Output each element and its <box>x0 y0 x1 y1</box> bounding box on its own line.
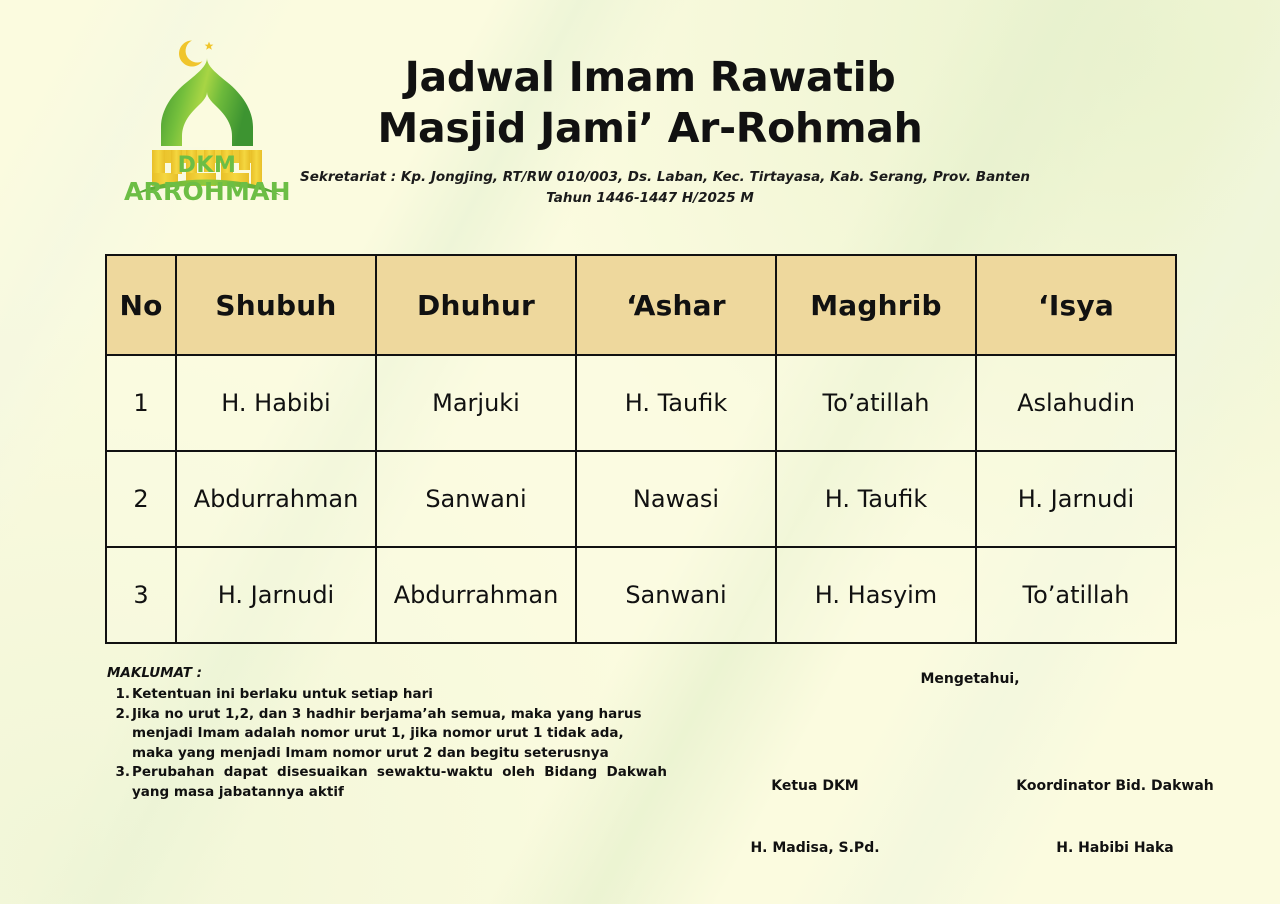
cell-dhuhur: Marjuki <box>376 355 576 451</box>
note-number: 3. <box>107 763 132 783</box>
cell-isya: To’atillah <box>976 547 1176 643</box>
column-header-dhuhur: Dhuhur <box>376 255 576 355</box>
column-header-maghrib: Maghrib <box>776 255 976 355</box>
column-header-isya: ‘Isya <box>976 255 1176 355</box>
note-number: 2. <box>107 705 132 725</box>
imam-schedule-table: No Shubuh Dhuhur ‘Ashar Maghrib ‘Isya 1 … <box>105 254 1177 644</box>
cell-shubuh: Abdurrahman <box>176 451 376 547</box>
cell-ashar: H. Taufik <box>576 355 776 451</box>
cell-dhuhur: Abdurrahman <box>376 547 576 643</box>
note-text: Jika no urut 1,2, dan 3 hadhir berjama’a… <box>132 705 667 764</box>
table-row: 3 H. Jarnudi Abdurrahman Sanwani H. Hasy… <box>106 547 1176 643</box>
notes-title: MAKLUMAT : <box>107 664 667 682</box>
logo-text-arrohmah: ARROHMAH <box>124 178 290 205</box>
document-header: DKM ARROHMAH Jadwal Imam Rawatib Masjid … <box>0 0 1280 245</box>
note-number: 1. <box>107 685 132 705</box>
signature-name-ketua: H. Madisa, S.Pd. <box>690 840 940 856</box>
dkm-arrohmah-logo: DKM ARROHMAH <box>124 26 290 212</box>
cell-no: 2 <box>106 451 176 547</box>
table-row: 1 H. Habibi Marjuki H. Taufik To’atillah… <box>106 355 1176 451</box>
logo-text-dkm: DKM <box>124 154 290 178</box>
acknowledgement-label: Mengetahui, <box>690 671 1250 687</box>
secretariat-address: Sekretariat : Kp. Jongjing, RT/RW 010/00… <box>300 167 1000 188</box>
cell-maghrib: H. Hasyim <box>776 547 976 643</box>
cell-ashar: Nawasi <box>576 451 776 547</box>
list-item: 2. Jika no urut 1,2, dan 3 hadhir berjam… <box>107 705 667 764</box>
maklumat-notes: MAKLUMAT : 1. Ketentuan ini berlaku untu… <box>107 664 667 802</box>
column-header-shubuh: Shubuh <box>176 255 376 355</box>
signature-block: Mengetahui, Ketua DKM H. Madisa, S.Pd. K… <box>690 664 1250 884</box>
cell-isya: Aslahudin <box>976 355 1176 451</box>
cell-maghrib: H. Taufik <box>776 451 976 547</box>
cell-isya: H. Jarnudi <box>976 451 1176 547</box>
signature-name-koordinator: H. Habibi Haka <box>990 840 1240 856</box>
title-block: Jadwal Imam Rawatib Masjid Jami’ Ar-Rohm… <box>300 52 1000 209</box>
note-text: Perubahan dapat disesuaikan sewaktu-wakt… <box>132 763 667 802</box>
cell-shubuh: H. Jarnudi <box>176 547 376 643</box>
page-title-line-2: Masjid Jami’ Ar-Rohmah <box>300 103 1000 154</box>
column-header-no: No <box>106 255 176 355</box>
page-title-line-1: Jadwal Imam Rawatib <box>300 52 1000 103</box>
list-item: 3. Perubahan dapat disesuaikan sewaktu-w… <box>107 763 667 802</box>
cell-no: 3 <box>106 547 176 643</box>
year-label: Tahun 1446-1447 H/2025 M <box>300 188 1000 209</box>
note-text: Ketentuan ini berlaku untuk setiap hari <box>132 685 667 705</box>
list-item: 1. Ketentuan ini berlaku untuk setiap ha… <box>107 685 667 705</box>
signature-role-koordinator: Koordinator Bid. Dakwah <box>990 778 1240 794</box>
table-header-row: No Shubuh Dhuhur ‘Ashar Maghrib ‘Isya <box>106 255 1176 355</box>
table-row: 2 Abdurrahman Sanwani Nawasi H. Taufik H… <box>106 451 1176 547</box>
cell-ashar: Sanwani <box>576 547 776 643</box>
schedule-table-container: No Shubuh Dhuhur ‘Ashar Maghrib ‘Isya 1 … <box>105 254 1175 644</box>
crescent-star-icon <box>179 41 213 67</box>
cell-maghrib: To’atillah <box>776 355 976 451</box>
cell-shubuh: H. Habibi <box>176 355 376 451</box>
cell-no: 1 <box>106 355 176 451</box>
signature-role-ketua: Ketua DKM <box>690 778 940 794</box>
poster-page: DKM ARROHMAH Jadwal Imam Rawatib Masjid … <box>0 0 1280 904</box>
column-header-ashar: ‘Ashar <box>576 255 776 355</box>
cell-dhuhur: Sanwani <box>376 451 576 547</box>
